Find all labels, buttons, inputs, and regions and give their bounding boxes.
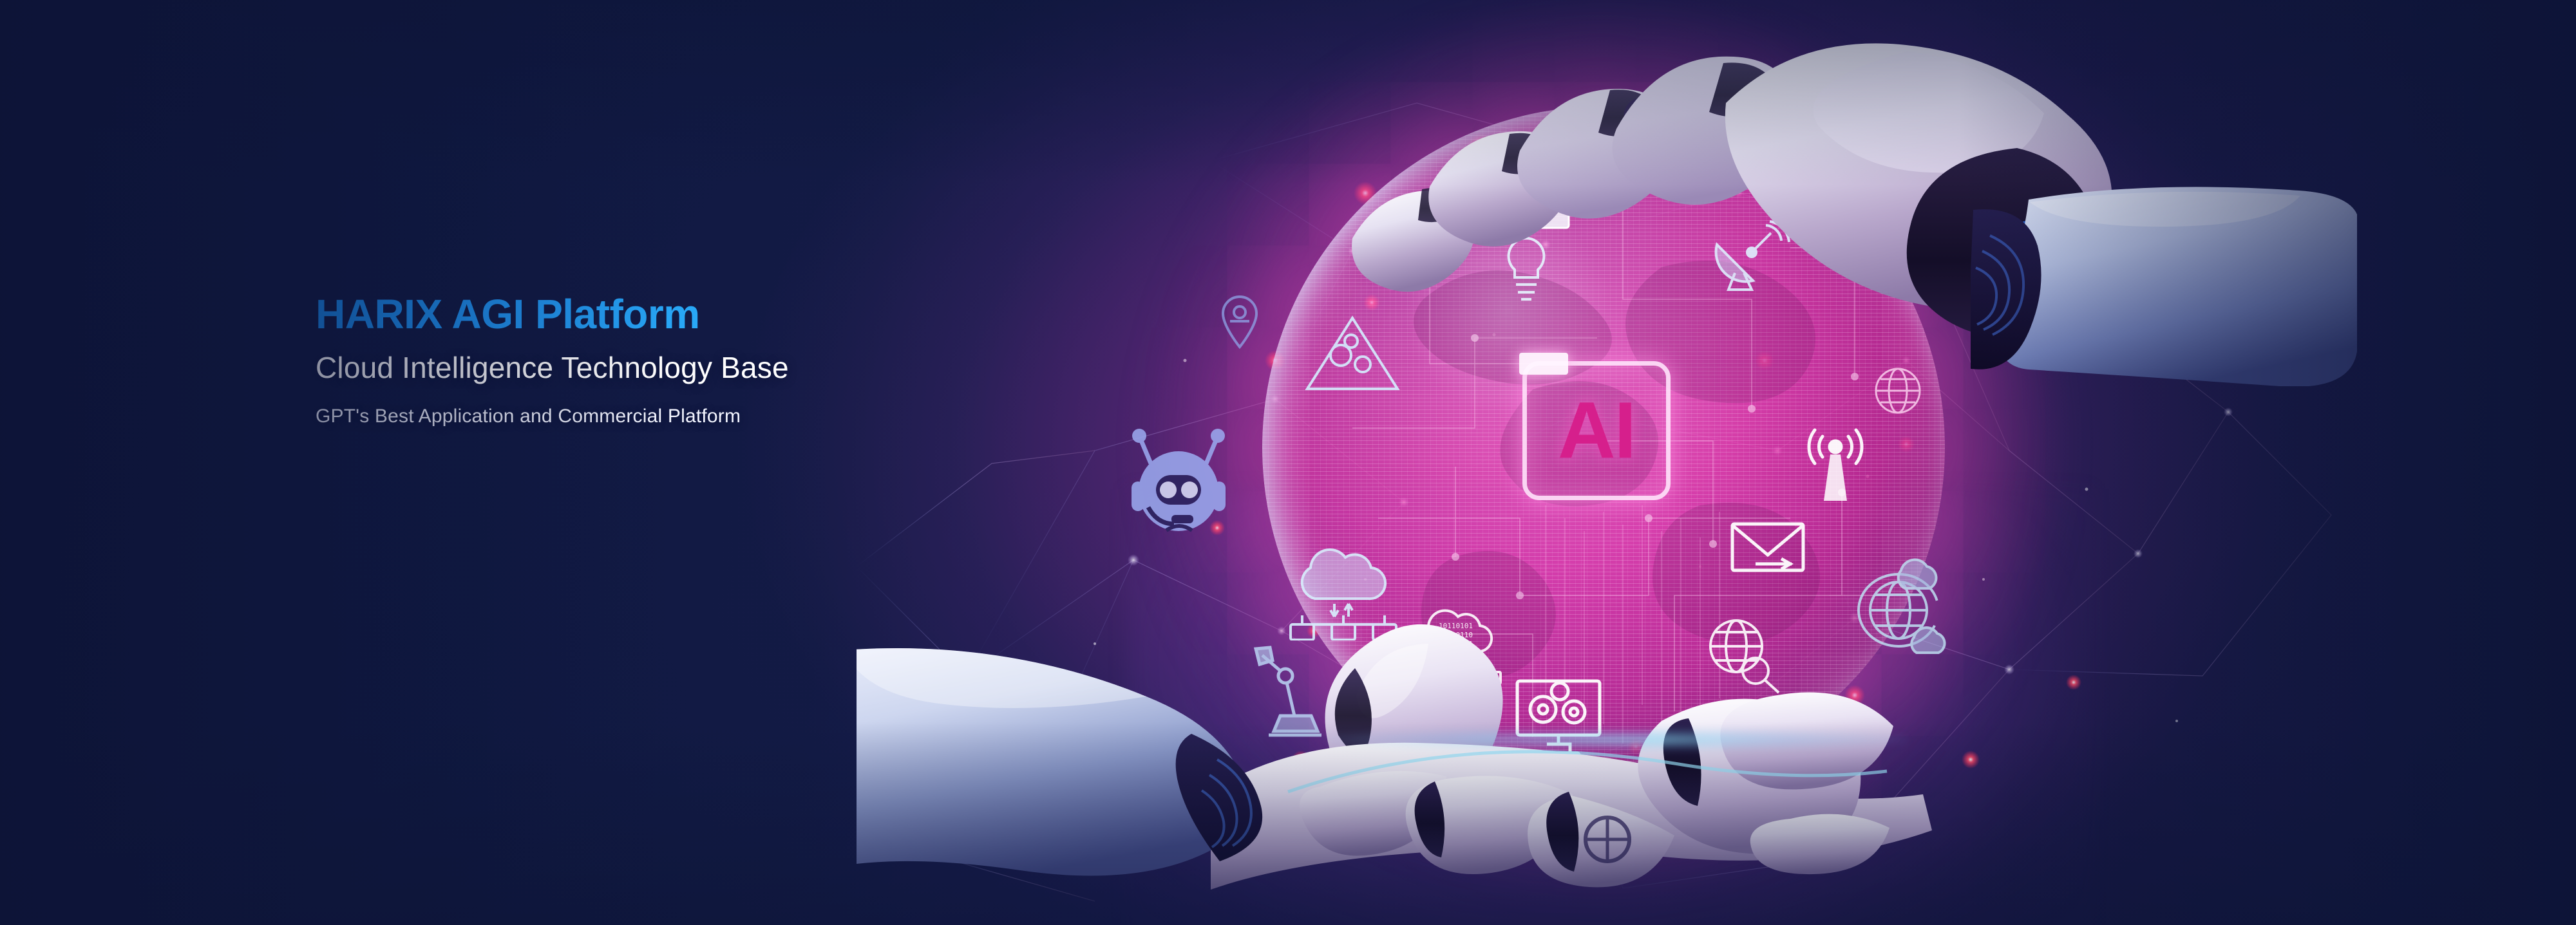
edge-vignette xyxy=(0,0,2576,925)
hero-banner: AI xyxy=(0,0,2576,925)
